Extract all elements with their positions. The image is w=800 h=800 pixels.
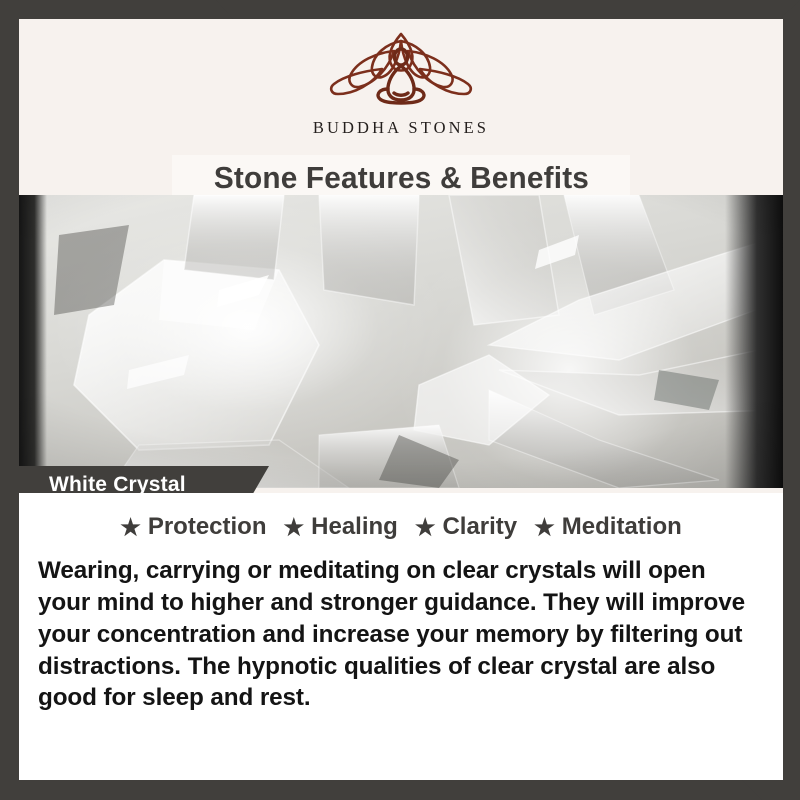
star-icon: ★ <box>120 516 141 539</box>
crystal-photo <box>19 195 783 488</box>
star-icon: ★ <box>284 516 305 539</box>
benefit-item-healing: ★ Healing <box>284 513 398 541</box>
frame-accent-right <box>780 0 800 800</box>
benefit-item-meditation: ★ Meditation <box>534 513 682 541</box>
star-icon: ★ <box>415 516 436 539</box>
frame-accent-top <box>0 0 800 19</box>
page-title-band: Stone Features & Benefits <box>172 155 630 200</box>
header: BUDDHA STONES Stone Features & Benefits <box>19 19 783 195</box>
photo-vignette <box>19 195 783 488</box>
frame-accent-bottom <box>0 780 800 800</box>
benefit-label: Meditation <box>562 513 682 541</box>
brand-name: BUDDHA STONES <box>313 118 489 138</box>
frame-accent-left <box>0 0 19 800</box>
benefit-item-protection: ★ Protection <box>120 513 266 541</box>
benefit-label: Clarity <box>442 513 517 541</box>
page-title: Stone Features & Benefits <box>213 160 588 196</box>
poster-root: BUDDHA STONES Stone Features & Benefits <box>0 0 800 800</box>
benefit-label: Protection <box>148 513 267 541</box>
description-paragraph: Wearing, carrying or meditating on clear… <box>38 555 757 714</box>
page-body: BUDDHA STONES Stone Features & Benefits <box>19 19 783 780</box>
benefits-row: ★ Protection ★ Healing ★ Clarity ★ Medit… <box>19 513 783 541</box>
brand-logo: BUDDHA STONES <box>19 27 783 138</box>
lotus-meditation-icon <box>316 27 486 113</box>
content-card: ★ Protection ★ Healing ★ Clarity ★ Medit… <box>19 493 783 780</box>
benefit-label: Healing <box>311 513 398 541</box>
benefit-item-clarity: ★ Clarity <box>415 513 517 541</box>
star-icon: ★ <box>534 516 555 539</box>
